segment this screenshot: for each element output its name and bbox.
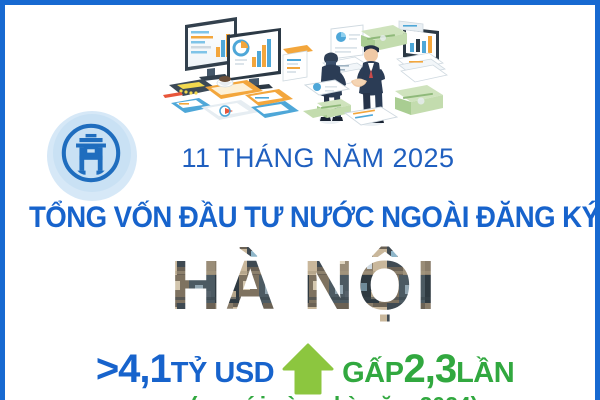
- date-line: 11 THÁNG NĂM 2025: [5, 143, 600, 174]
- stat-total-capital-unit: TỶ USD: [171, 357, 274, 389]
- city-name-hanoi: HÀ NỘI: [5, 245, 600, 331]
- footnote-comparison: (so với cùng kỳ năm 2024): [5, 392, 600, 400]
- svg-text:HÀ NỘI: HÀ NỘI: [171, 245, 440, 324]
- foreign-investment-isometric-illustration: [155, 7, 455, 142]
- stat-growth-prefix: GẤP: [342, 357, 403, 389]
- stat-growth-value: 2,3: [403, 347, 456, 391]
- stat-total-capital: >4,1TỶ USD: [96, 349, 274, 389]
- page-title: TỔNG VỐN ĐẦU TƯ NƯỚC NGOÀI ĐĂNG KÝ VÀO: [29, 201, 581, 235]
- stat-growth-multiple: GẤP2,3LẦN: [342, 349, 514, 389]
- infographic-canvas: 11 THÁNG NĂM 2025 TỔNG VỐN ĐẦU TƯ NƯỚC N…: [0, 0, 600, 400]
- arrow-up-icon: [280, 341, 336, 397]
- stat-total-capital-value: >4,1: [96, 347, 171, 391]
- stats-row: >4,1TỶ USD GẤP2,3LẦN: [5, 341, 600, 397]
- stat-growth-unit: LẦN: [456, 357, 514, 389]
